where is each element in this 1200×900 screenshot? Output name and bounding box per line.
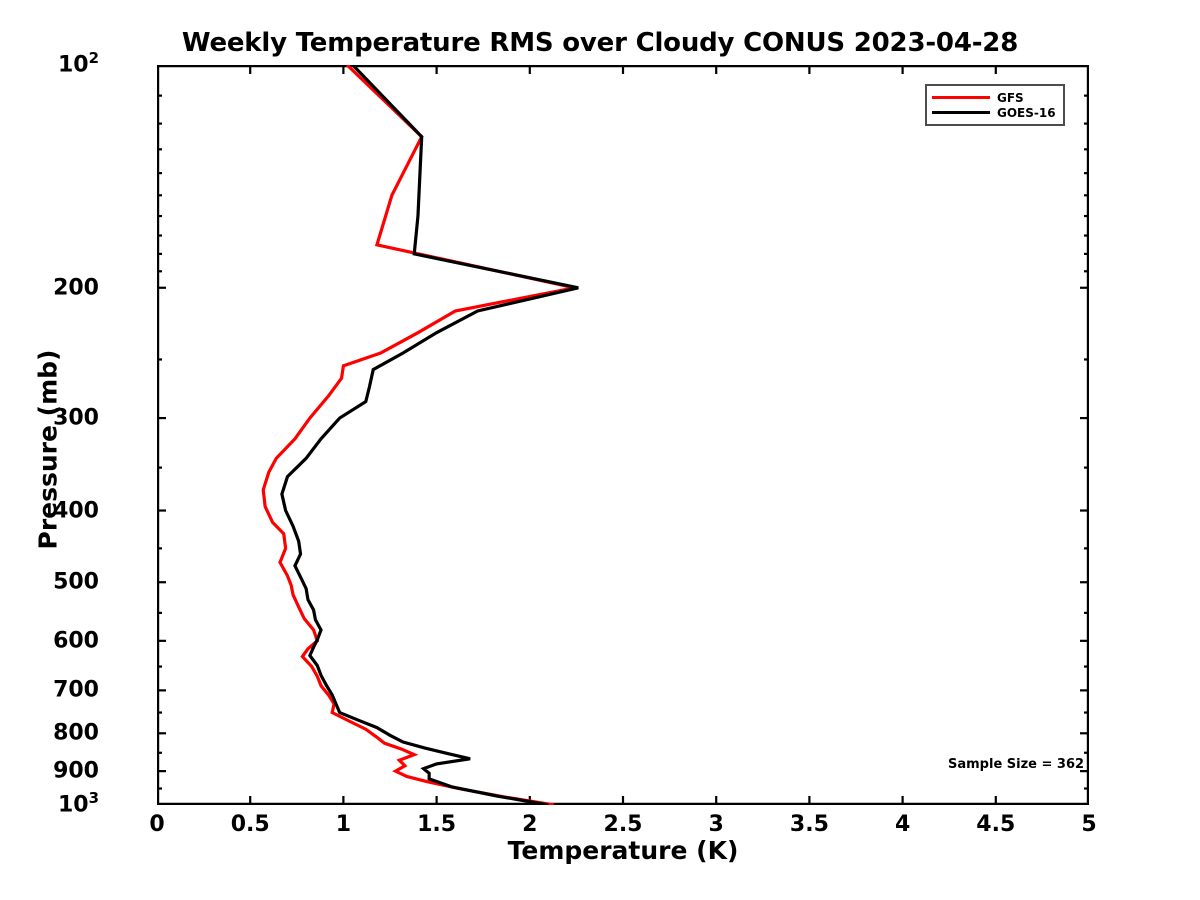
legend-swatch xyxy=(932,111,990,114)
y-tick-label: 102 xyxy=(58,53,99,78)
x-tick-label: 0.5 xyxy=(231,812,270,837)
legend-item-goes-16[interactable]: GOES-16 xyxy=(932,105,1056,120)
y-tick-label: 900 xyxy=(53,759,99,784)
data-series-group xyxy=(263,65,578,805)
plot-canvas xyxy=(157,65,1089,805)
legend-label: GOES-16 xyxy=(997,107,1056,119)
y-axis-label: Pressure (mb) xyxy=(34,190,63,710)
x-axis-label: Temperature (K) xyxy=(157,836,1089,865)
x-tick-label: 4 xyxy=(895,812,910,837)
legend-swatch xyxy=(932,96,990,99)
y-tick-label: 103 xyxy=(58,793,99,818)
x-tick-label: 1.5 xyxy=(417,812,456,837)
chart-legend: GFSGOES-16 xyxy=(925,84,1065,126)
x-tick-label: 1 xyxy=(336,812,351,837)
chart-title: Weekly Temperature RMS over Cloudy CONUS… xyxy=(0,28,1200,58)
x-tick-label: 3.5 xyxy=(790,812,829,837)
chart-figure: Weekly Temperature RMS over Cloudy CONUS… xyxy=(0,0,1200,900)
legend-item-gfs[interactable]: GFS xyxy=(932,90,1056,105)
x-tick-label: 0 xyxy=(149,812,164,837)
x-tick-label: 2 xyxy=(522,812,537,837)
legend-label: GFS xyxy=(997,92,1024,104)
sample-size-annotation: Sample Size = 362 xyxy=(948,757,1084,772)
x-tick-label: 4.5 xyxy=(976,812,1015,837)
y-tick-label: 800 xyxy=(53,721,99,746)
plot-area xyxy=(157,65,1089,805)
x-tick-label: 2.5 xyxy=(604,812,643,837)
x-tick-label: 3 xyxy=(709,812,724,837)
x-tick-label: 5 xyxy=(1081,812,1096,837)
